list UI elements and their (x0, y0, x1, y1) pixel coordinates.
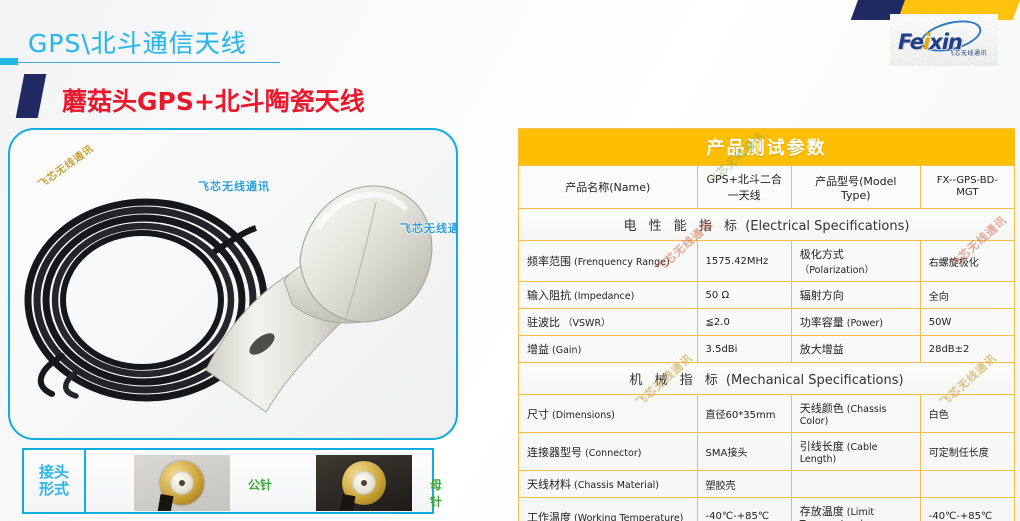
table-row: 驻波比 （VSWR）≦2.0功率容量 (Power)50W (519, 309, 1015, 336)
table-row: 产品名称(Name) GPS+北斗二合一天线 产品型号(Model Type) … (519, 166, 1015, 209)
spec-label2-en: (Power) (844, 318, 883, 329)
spec-value: 1575.42MHz (697, 241, 791, 282)
title-divider (0, 62, 280, 63)
spec-label2-cn: 极化方式 （Polarization） (791, 241, 920, 282)
spec-value: 50 Ω (697, 282, 791, 309)
table-row: 工作温度 (Working Temperature)-40℃-+85℃存放温度 … (519, 498, 1015, 521)
spec-value: ≦2.0 (697, 309, 791, 336)
spec-value: SMA接头 (697, 433, 791, 471)
spec-label-en: (Gain) (549, 345, 581, 356)
connector-label-line2: 形式 (39, 481, 69, 498)
spec-value2: 右螺旋极化 (920, 241, 1014, 282)
spec-label-cn: 频率范围 (Frenquency Range) (519, 241, 698, 282)
spec-value: 直径60*35mm (697, 395, 791, 433)
product-subtitle: 蘑菇头GPS+北斗陶瓷天线 (62, 82, 365, 118)
spec-value2: 全向 (920, 282, 1014, 309)
spec-label-cn: 输入阻抗 (527, 289, 571, 302)
table-row: 天线材料 (Chassis Material)塑胶壳 (519, 471, 1015, 498)
table-row: 频率范围 (Frenquency Range)1575.42MHz极化方式 （P… (519, 241, 1015, 282)
table-row: 尺寸 (Dimensions)直径60*35mm天线颜色 (Chassis Co… (519, 395, 1015, 433)
spec-value: 3.5dBi (697, 336, 791, 363)
spec-label-cn: 频率范围 (527, 255, 571, 268)
page-title: GPS\北斗通信天线 (28, 24, 247, 60)
spec-label-en: (Dimensions) (549, 410, 615, 421)
spec-label-cn: 天线材料 (Chassis Material) (519, 471, 698, 498)
spec-label2-cn: 功率容量 (800, 316, 844, 329)
company-logo: Feixin 飞芯无线通讯 (890, 14, 998, 66)
spec-label2-cn (791, 471, 920, 498)
logo-text-main: Fe (898, 30, 923, 54)
spec-value: -40℃-+85℃ (697, 498, 791, 521)
spec-label2-cn: 引线长度 (800, 440, 844, 453)
spec-label-cn: 尺寸 (Dimensions) (519, 395, 698, 433)
spec-label-cn: 工作温度 (527, 511, 571, 521)
mechanical-head-cn: 机 械 指 标 (629, 373, 721, 388)
connector-photo-male (134, 455, 230, 511)
product-name-label: 产品名称(Name) (519, 166, 698, 209)
model-type-label: 产品型号(Model Type) (791, 166, 920, 209)
table-row: 增益 (Gain)3.5dBi放大增益28dB±2 (519, 336, 1015, 363)
connector-caption-male: 公针 (248, 476, 272, 493)
connector-caption-female: 母针 (430, 476, 442, 510)
table-row: 连接器型号 (Connector)SMA接头引线长度 (Cable Length… (519, 433, 1015, 471)
antenna-product-illustration (200, 158, 450, 418)
spec-label-cn: 连接器型号 (527, 446, 582, 459)
product-name-value: GPS+北斗二合一天线 (697, 166, 791, 209)
spec-label2-en: （Polarization） (800, 265, 874, 276)
electrical-head-en: (Electrical Specifications) (745, 219, 909, 234)
electrical-head-cn: 电 性 能 指 标 (624, 219, 742, 234)
table-row: 输入阻抗 (Impedance)50 Ω辐射方向全向 (519, 282, 1015, 309)
logo-subtitle: 飞芯无线通讯 (948, 48, 987, 57)
spec-value2: 白色 (920, 395, 1014, 433)
spec-label-cn: 天线材料 (527, 478, 571, 491)
spec-label-cn: 尺寸 (527, 408, 549, 421)
table-title: 产品测试参数 (519, 129, 1015, 166)
spec-label-cn: 工作温度 (Working Temperature) (519, 498, 698, 521)
spec-label-en: (Chassis Material) (571, 480, 659, 491)
connector-photo-female (316, 455, 412, 511)
table-title-row: 产品测试参数 (519, 129, 1015, 166)
product-photo-panel: 飞芯无线通讯 飞芯无线通讯 飞芯无线通讯 (8, 128, 458, 440)
connector-type-strip: 接头 形式 公针 母针 (22, 448, 434, 514)
spec-value: 塑胶壳 (697, 471, 791, 498)
subtitle-marker-shape (16, 74, 47, 118)
spec-label2-cn: 存放温度 (800, 505, 844, 518)
spec-label2-cn: 天线颜色 (Chassis Color) (791, 395, 920, 433)
spec-label2-cn: 放大增益 (791, 336, 920, 363)
spec-label-cn: 增益 (Gain) (519, 336, 698, 363)
connector-label-line1: 接头 (39, 464, 69, 481)
spec-label-cn: 驻波比 (527, 316, 560, 329)
spec-label-cn: 连接器型号 (Connector) (519, 433, 698, 471)
spec-label2-cn: 放大增益 (800, 343, 844, 356)
connector-cable-tail (339, 494, 355, 511)
title-divider-cap (0, 58, 18, 65)
spec-label2-cn: 辐射方向 (791, 282, 920, 309)
spec-label-cn: 驻波比 （VSWR） (519, 309, 698, 336)
spec-value2: 50W (920, 309, 1014, 336)
spec-label-en: (Impedance) (571, 291, 634, 302)
section-header-electrical: 电 性 能 指 标 (Electrical Specifications) (519, 209, 1015, 241)
spec-label2-cn: 天线颜色 (800, 402, 844, 415)
mechanical-head-en: (Mechanical Specifications) (722, 373, 904, 388)
spec-label2-cn: 极化方式 (800, 248, 844, 261)
spec-value2: 28dB±2 (920, 336, 1014, 363)
section-header-mechanical: 机 械 指 标 (Mechanical Specifications) (519, 363, 1015, 395)
spec-value2 (920, 471, 1014, 498)
spec-value2: -40℃-+85℃ (920, 498, 1014, 521)
spec-label-cn: 输入阻抗 (Impedance) (519, 282, 698, 309)
spec-label-en: （VSWR） (560, 318, 611, 329)
spec-label2-cn: 辐射方向 (800, 289, 844, 302)
photo-watermark-left: 飞芯无线通讯 (34, 140, 96, 191)
model-type-value: FX--GPS-BD-MGT (920, 166, 1014, 209)
spec-label2-cn: 功率容量 (Power) (791, 309, 920, 336)
connector-cable-tail (157, 494, 173, 511)
spec-label-en: (Working Temperature) (571, 513, 683, 521)
product-spec-table: 产品测试参数 产品名称(Name) GPS+北斗二合一天线 产品型号(Model… (518, 128, 1015, 521)
spec-value2: 可定制任长度 (920, 433, 1014, 471)
spec-label-en: (Connector) (582, 448, 641, 459)
spec-label2-cn: 存放温度 (Limit Temperature) (791, 498, 920, 521)
connector-type-label: 接头 形式 (24, 450, 86, 512)
mechanical-head: 机 械 指 标 (Mechanical Specifications) (519, 363, 1015, 395)
spec-label2-cn: 引线长度 (Cable Length) (791, 433, 920, 471)
spec-label-en: (Frenquency Range) (571, 257, 670, 268)
spec-label-cn: 增益 (527, 343, 549, 356)
